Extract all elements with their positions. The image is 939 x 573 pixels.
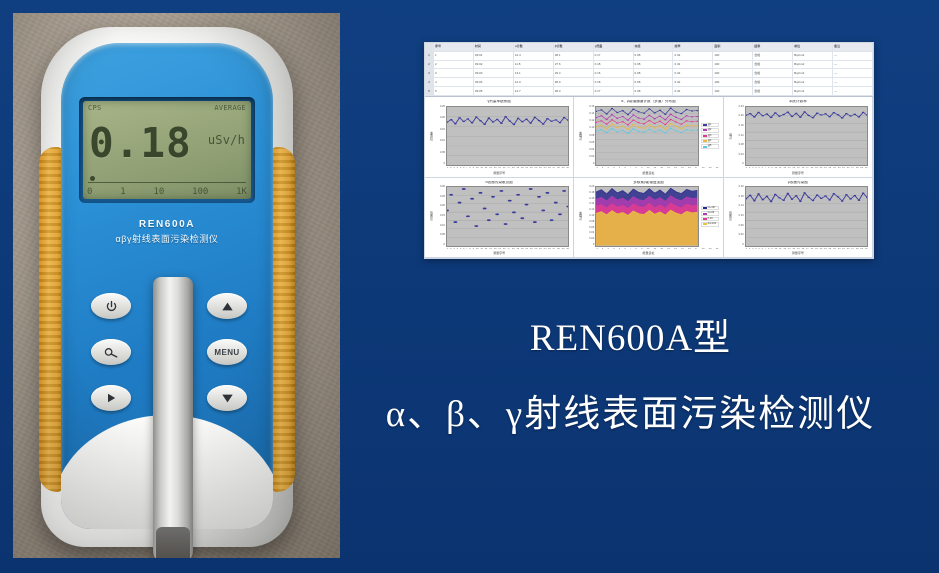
chart-data-point — [665, 124, 667, 125]
chart-xtick: 16 — [801, 167, 804, 169]
chart-data-point — [537, 196, 541, 198]
chart-data-point — [649, 124, 651, 125]
chart-xtick: 19 — [709, 248, 712, 250]
chart-data-point — [525, 204, 529, 206]
chart-data-point — [474, 225, 478, 227]
chart-data-point — [654, 127, 656, 128]
chart-xtick: 14 — [494, 248, 497, 250]
chart-svg — [746, 187, 867, 246]
chart-data-point — [529, 188, 533, 190]
charts-grid: γ剂量率趋势图剂量率0.250.200.150.100.050123456789… — [425, 97, 873, 258]
chart-xtick: 17 — [695, 248, 698, 250]
chart-xtick: 13 — [489, 248, 492, 250]
spreadsheet-cell: 0.18 — [594, 78, 634, 86]
chart-xtick: 11 — [779, 248, 781, 250]
chart-legend-label: 道5 — [708, 145, 712, 147]
chart-xtick: 24 — [838, 248, 841, 250]
chart-xtick: 25 — [544, 167, 547, 169]
chart-xtick: 26 — [847, 167, 850, 169]
chart-data-point — [611, 128, 613, 129]
chart-cell: 多核素γ能谱叠加图计数率0.200.180.160.140.120.100.08… — [574, 178, 723, 259]
chart-cell: β表面污染图污染值0.220.180.140.100.060.020123456… — [724, 178, 873, 259]
chart-xtick: 3 — [453, 167, 454, 169]
chart-data-point — [761, 115, 764, 116]
chart-xtick: 3 — [752, 167, 753, 169]
chart-xtick: 28 — [856, 167, 859, 169]
chart-ytick: 0.20 — [583, 186, 594, 189]
chart-data-point — [513, 124, 516, 125]
spreadsheet-cell: — — [833, 61, 873, 69]
chart-data-point — [861, 193, 864, 194]
chart-xtick: 8 — [635, 248, 636, 250]
chart-xtick: 10 — [647, 167, 650, 169]
chart-cell: α、β能谱通道计数（多道）分布图计数率0.160.140.120.100.080… — [574, 97, 723, 178]
chart-xticks: 1234567891011121314151617181920212223242… — [429, 167, 569, 169]
chart-xtick: 30 — [566, 248, 569, 250]
chart-xtick: 15 — [681, 248, 684, 250]
chart-xtick: 18 — [811, 167, 814, 169]
triangle-down-icon — [221, 393, 234, 404]
chart-xtick: 12 — [485, 248, 488, 250]
chart-ytick: 0.10 — [583, 127, 594, 130]
chart-data-point — [643, 131, 645, 132]
spreadsheet-row-header — [425, 43, 434, 51]
chart-data-point — [815, 194, 818, 195]
handle-bottom-nub — [156, 527, 190, 558]
chart-data-point — [471, 122, 474, 123]
chart-data-point — [633, 119, 635, 120]
play-button[interactable] — [91, 385, 131, 411]
chart-data-point — [807, 114, 810, 115]
chart-xtick: 1 — [746, 248, 747, 250]
chart-xtick: 23 — [833, 167, 836, 169]
chart-ytick: 0.05 — [434, 152, 445, 155]
spreadsheet-cell: 12.7 — [514, 87, 554, 95]
chart-ytick: 0.16 — [733, 125, 744, 128]
chart-ytick: 0.10 — [434, 225, 445, 228]
chart-data-point — [627, 119, 629, 120]
chart-data-point — [697, 115, 698, 116]
chart-data-point — [841, 117, 844, 118]
chart-ytick: 0.06 — [733, 225, 744, 228]
chart-ytick: 0.14 — [583, 203, 594, 206]
chart-area — [596, 210, 697, 245]
chart-legend-swatch — [703, 140, 707, 142]
spreadsheet-cell: 0.32 — [673, 52, 713, 60]
title-block: REN600A型 α、β、γ射线表面污染检测仪 — [330, 318, 931, 437]
chart-xtick: 13 — [667, 167, 670, 169]
spreadsheet-cell: 12.4 — [514, 52, 554, 60]
spreadsheet-cell: 0.08 — [634, 52, 674, 60]
chart-data-point — [470, 198, 474, 200]
chart-xtick: 26 — [548, 248, 551, 250]
chart-xtick: 2 — [450, 167, 451, 169]
product-photo: CPS AVERAGE 0.18 uSv/h 0 1 10 100 1K — [13, 13, 340, 558]
chart-xlabel: 能量道址 — [578, 251, 718, 255]
chart-ytick: 0.16 — [583, 106, 594, 109]
chart-data-point — [617, 111, 619, 112]
chart-line-series — [746, 111, 867, 117]
chart-legend-item: 道2 — [701, 128, 719, 132]
chart-data-point — [691, 116, 693, 117]
chart-data-point — [659, 120, 661, 121]
chart-xtick: 27 — [553, 167, 556, 169]
chart-data-point — [566, 206, 568, 208]
spreadsheet-cell: 09:01 — [474, 52, 514, 60]
chart-xtick: 6 — [624, 167, 625, 169]
chart-xtick: 10 — [647, 248, 650, 250]
chart-data-point — [559, 122, 562, 123]
chart-xtick: 3 — [608, 167, 609, 169]
chart-data-point — [617, 126, 619, 127]
chart-legend-label: 道4 — [708, 140, 712, 142]
chart-data-point — [617, 117, 619, 118]
chart-xtick: 21 — [824, 248, 827, 250]
chart-yticks: 0.300.250.200.150.100.050 — [434, 186, 446, 247]
product-model-title: REN600A型 — [330, 318, 931, 361]
chart-xtick: 20 — [820, 248, 823, 250]
chart-ylabel: 计数率 — [578, 186, 583, 247]
chart-data-point — [606, 118, 608, 119]
chart-data-point — [686, 115, 688, 116]
chart-data-point — [550, 120, 553, 121]
chart-xtick: 16 — [503, 167, 506, 169]
spreadsheet-cell: 09:03 — [474, 69, 514, 77]
down-button[interactable] — [207, 385, 247, 411]
chart-ytick: 0.25 — [434, 106, 445, 109]
chart-title: γ剂量率趋势图 — [429, 100, 569, 104]
chart-xtick: 12 — [660, 167, 663, 169]
chart-xtick: 29 — [562, 167, 565, 169]
chart-xtick: 14 — [674, 248, 677, 250]
chart-data-point — [654, 118, 656, 119]
spreadsheet-row: 1109:0112.428.10.170.080.32100合格Bq/cm2— — [425, 52, 873, 61]
chart-legend-swatch — [703, 207, 707, 209]
triangle-right-icon — [105, 392, 117, 404]
chart-data-point — [617, 122, 619, 123]
chart-xtick: 5 — [758, 167, 759, 169]
search-button[interactable] — [91, 339, 131, 365]
chart-ylabel: 剂量率 — [429, 106, 434, 167]
chart-plot-area — [745, 186, 868, 247]
chart-xtick: 18 — [702, 167, 705, 169]
chart-xtick: 1 — [596, 248, 597, 250]
chart-data-point — [525, 118, 528, 119]
chart-data-point — [654, 131, 656, 132]
spreadsheet-cell: 100 — [713, 69, 753, 77]
chart-data-point — [681, 128, 683, 129]
chart-xtick: 6 — [762, 167, 763, 169]
chart-title: 本底计数率 — [728, 100, 868, 104]
chart-body: 计数率0.160.140.120.100.080.060.040.020道1道2… — [578, 106, 718, 167]
chart-data-point — [849, 115, 852, 116]
chart-data-point — [697, 129, 698, 130]
chart-data-point — [769, 201, 772, 202]
chart-ylabel: 污染值 — [728, 186, 733, 247]
chart-data-point — [697, 125, 698, 126]
chart-xtick: 2 — [749, 167, 750, 169]
chart-data-point — [606, 123, 608, 124]
spreadsheet-cell: 0.16 — [594, 69, 634, 77]
chart-data-point — [861, 111, 864, 112]
chart-xtick: 11 — [654, 248, 656, 250]
chart-cell: α表面污染散点图污染值0.300.250.200.150.100.0501234… — [425, 178, 574, 259]
spreadsheet-cell: 合格 — [753, 52, 793, 60]
chart-data-point — [691, 121, 693, 122]
chart-xtick: 27 — [553, 248, 556, 250]
chart-xtick: 25 — [842, 248, 845, 250]
chart-xtick: 20 — [820, 167, 823, 169]
chart-legend-label: Co-60 — [708, 212, 715, 214]
chart-xtick: 19 — [516, 248, 519, 250]
chart-data-point — [447, 210, 449, 212]
chart-xtick: 30 — [566, 167, 569, 169]
spreadsheet-cell: 0.08 — [634, 87, 674, 95]
chart-data-point — [449, 194, 453, 196]
chart-svg — [746, 107, 867, 166]
chart-data-point — [670, 107, 672, 108]
chart-data-point — [554, 119, 557, 120]
chart-body: 污染值0.220.180.140.100.060.020 — [728, 186, 868, 247]
spreadsheet-cell: 11.8 — [514, 61, 554, 69]
chart-data-point — [753, 116, 756, 117]
chart-data-point — [508, 120, 511, 121]
chart-data-point — [622, 121, 624, 122]
chart-data-point — [811, 117, 814, 118]
chart-ytick: 0.15 — [434, 215, 445, 218]
spreadsheet-cell: — — [833, 78, 873, 86]
chart-data-point — [790, 115, 793, 116]
spreadsheet-cell: 0.18 — [594, 61, 634, 69]
chart-data-point — [504, 116, 507, 117]
chart-ytick: 0.30 — [434, 186, 445, 189]
chart-plot-area — [595, 186, 698, 247]
chart-ytick: 0.02 — [583, 156, 594, 159]
product-description-title: α、β、γ射线表面污染检测仪 — [330, 383, 931, 437]
chart-data-point — [601, 109, 603, 110]
spreadsheet-cell: 0.32 — [673, 69, 713, 77]
chart-xtick: 25 — [842, 167, 845, 169]
chart-data-point — [659, 109, 661, 110]
chart-ytick: 0.25 — [434, 196, 445, 199]
chart-data-point — [546, 118, 549, 119]
spreadsheet-cell: 13.1 — [514, 69, 554, 77]
chart-data-point — [558, 213, 562, 215]
chart-xtick: 8 — [469, 167, 470, 169]
chart-data-point — [790, 199, 793, 200]
chart-data-point — [803, 192, 806, 193]
chart-data-point — [849, 198, 852, 199]
spreadsheet-cell: 0.32 — [673, 61, 713, 69]
chart-xtick: 4 — [613, 248, 614, 250]
chart-data-point — [670, 113, 672, 114]
chart-data-point — [458, 117, 461, 118]
chart-data-point — [516, 194, 520, 196]
chart-xtick: 30 — [865, 248, 868, 250]
chart-xtick: 6 — [624, 248, 625, 250]
chart-xtick: 11 — [480, 167, 482, 169]
chart-data-point — [836, 114, 839, 115]
chart-xtick: 6 — [463, 167, 464, 169]
spreadsheet-column-header: 面积 — [713, 43, 753, 51]
chart-xlabel: 测量序号 — [728, 251, 868, 255]
chart-data-point — [538, 120, 541, 121]
chart-data-point — [483, 208, 487, 210]
chart-xtick: 13 — [788, 167, 791, 169]
chart-data-point — [622, 125, 624, 126]
menu-button[interactable]: MENU — [207, 339, 247, 365]
chart-xtick: 12 — [660, 248, 663, 250]
chart-data-point — [824, 195, 827, 196]
chart-data-point — [638, 126, 640, 127]
chart-line-series — [746, 193, 867, 202]
chart-ytick: 0.14 — [583, 113, 594, 116]
chart-data-point — [782, 200, 785, 201]
chart-xtick: 12 — [783, 167, 786, 169]
chart-body: 剂量率0.250.200.150.100.050 — [429, 106, 569, 167]
chart-xtick: 5 — [460, 167, 461, 169]
chart-xtick: 17 — [507, 248, 510, 250]
chart-data-point — [622, 129, 624, 130]
spreadsheet-cell: 2 — [434, 61, 474, 69]
chart-plot-area — [446, 106, 569, 167]
chart-xlabel: 能量道址 — [578, 171, 718, 175]
chart-yticks: 0.160.140.120.100.080.060.040.020 — [583, 106, 595, 167]
chart-legend-swatch — [703, 129, 707, 131]
spreadsheet-cell: Bq/cm2 — [793, 78, 833, 86]
chart-legend: Cs-137Co-60K-40Am-241 — [699, 186, 719, 247]
chart-xtick: 14 — [674, 167, 677, 169]
chart-xtick: 6 — [762, 248, 763, 250]
spreadsheet-column-header: 时间 — [474, 43, 514, 51]
chart-data-point — [857, 116, 860, 117]
chart-xtick: 4 — [613, 167, 614, 169]
chart-legend-swatch — [703, 223, 707, 225]
chart-data-point — [479, 192, 483, 194]
chart-data-point — [601, 129, 603, 130]
chart-xtick: 28 — [557, 167, 560, 169]
spreadsheet-cell: 100 — [713, 52, 753, 60]
chart-data-point — [659, 125, 661, 126]
chart-xtick: 8 — [768, 248, 769, 250]
spreadsheet-header-row: 序号时间α计数β计数γ剂量本底效率面积结果单位备注 — [425, 43, 873, 52]
chart-xtick: 13 — [788, 248, 791, 250]
chart-xtick: 22 — [829, 248, 832, 250]
chart-data-point — [832, 193, 835, 194]
spreadsheet-cell: 0.32 — [673, 87, 713, 95]
chart-xtick: 20 — [521, 167, 524, 169]
chart-ytick: 0 — [434, 163, 445, 166]
chart-yticks: 0.220.180.140.100.060.020 — [733, 186, 745, 247]
spreadsheet-row: 4409:0412.028.90.180.080.32100合格Bq/cm2— — [425, 78, 873, 87]
chart-ytick: 0.05 — [434, 234, 445, 237]
chart-data-point — [786, 111, 789, 112]
spreadsheet-cell: 09:04 — [474, 78, 514, 86]
chart-ytick: 0 — [733, 163, 744, 166]
chart-xtick: 22 — [829, 167, 832, 169]
chart-xtick: 3 — [453, 248, 454, 250]
chart-xticks: 1234567891011121314151617181920212223242… — [728, 248, 868, 250]
spreadsheet-cell: 100 — [713, 78, 753, 86]
chart-data-point — [841, 201, 844, 202]
chart-ytick: 0.08 — [733, 144, 744, 147]
chart-ytick: 0.10 — [733, 215, 744, 218]
chart-data-point — [627, 132, 629, 133]
chart-xtick: 14 — [792, 167, 795, 169]
spreadsheet-cell: 100 — [713, 61, 753, 69]
spreadsheet-cell: — — [833, 87, 873, 95]
chart-data-point — [563, 116, 566, 117]
chart-plot-area — [745, 106, 868, 167]
spreadsheet-column-header: 序号 — [434, 43, 474, 51]
chart-data-point — [681, 113, 683, 114]
chart-xtick: 1 — [447, 248, 448, 250]
chart-xtick: 21 — [824, 167, 827, 169]
up-button[interactable] — [207, 293, 247, 319]
chart-data-point — [649, 108, 651, 109]
chart-data-point — [681, 118, 683, 119]
spreadsheet-column-header: 备注 — [833, 43, 873, 51]
menu-button-label: MENU — [214, 348, 239, 357]
spreadsheet-cell: 28.1 — [554, 52, 594, 60]
chart-xtick: 7 — [466, 167, 467, 169]
chart-cell: γ剂量率趋势图剂量率0.250.200.150.100.050123456789… — [425, 97, 574, 178]
chart-data-point — [521, 121, 524, 122]
chart-ytick: 0.04 — [583, 232, 594, 235]
chart-ytick: 0.02 — [733, 234, 744, 237]
chart-legend-item: Cs-137 — [701, 206, 719, 210]
chart-data-point — [601, 115, 603, 116]
chart-xtick: 30 — [865, 167, 868, 169]
chart-data-point — [853, 113, 856, 114]
chart-data-point — [499, 190, 503, 192]
chart-xtick: 29 — [860, 167, 863, 169]
chart-data-point — [691, 110, 693, 111]
chart-data-point — [686, 129, 688, 130]
chart-data-point — [601, 124, 603, 125]
chart-data-point — [542, 123, 545, 124]
chart-xtick: 23 — [833, 248, 836, 250]
chart-xtick: 1 — [596, 167, 597, 169]
chart-data-point — [765, 196, 768, 197]
chart-data-point — [512, 212, 516, 214]
chart-data-point — [681, 132, 683, 133]
chart-xtick: 7 — [630, 248, 631, 250]
chart-svg — [447, 187, 568, 246]
chart-data-point — [686, 109, 688, 110]
chart-data-point — [562, 190, 566, 192]
chart-data-point — [611, 123, 613, 124]
chart-xtick: 16 — [801, 248, 804, 250]
chart-xtick: 28 — [856, 248, 859, 250]
spreadsheet-cell: — — [833, 52, 873, 60]
chart-xtick: 21 — [525, 248, 528, 250]
chart-legend-label: 道2 — [708, 129, 712, 131]
chart-legend-label: Cs-137 — [708, 207, 716, 209]
chart-data-point — [820, 198, 823, 199]
chart-xtick: 9 — [473, 248, 474, 250]
chart-data-point — [778, 197, 781, 198]
chart-xtick: 4 — [457, 248, 458, 250]
chart-data-point — [633, 108, 635, 109]
chart-xtick: 12 — [485, 167, 488, 169]
power-button[interactable] — [91, 293, 131, 319]
spreadsheet-row-header: 1 — [425, 52, 434, 60]
chart-data-point — [670, 123, 672, 124]
chart-data-point — [824, 113, 827, 114]
chart-data-point — [782, 114, 785, 115]
chart-legend-label: 道3 — [708, 135, 712, 137]
